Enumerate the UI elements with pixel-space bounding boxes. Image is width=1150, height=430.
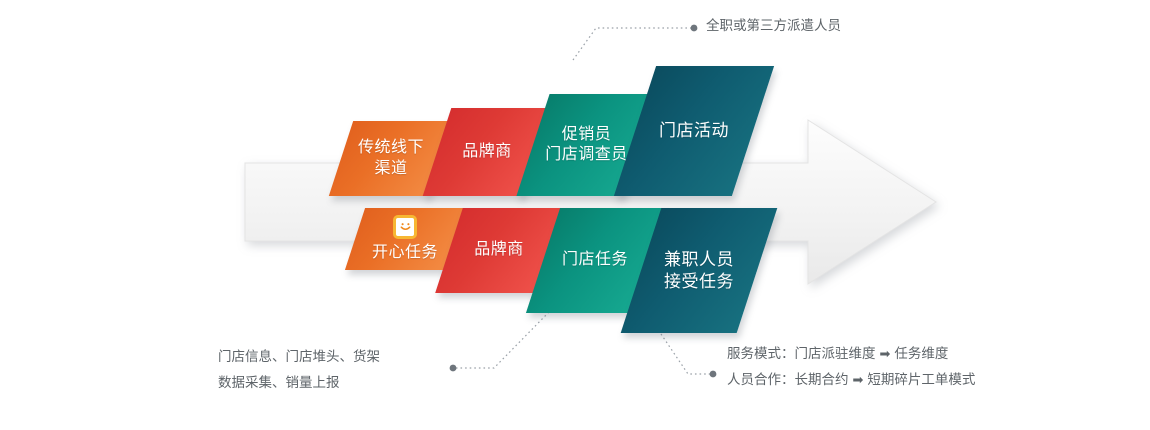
- tile-label-line: 门店调查员: [545, 145, 628, 165]
- tile-label-line: 接受任务: [664, 271, 734, 293]
- annotation-line: 数据采集、销量上报: [218, 370, 380, 396]
- leader-top: [573, 28, 691, 60]
- annotation-bottom-left: 门店信息、门店堆头、货架 数据采集、销量上报: [218, 344, 380, 397]
- annotation-bottom-right: 服务模式：门店派驻维度➡任务维度 人员合作：长期合约➡短期碎片工单模式: [727, 341, 975, 394]
- tile-label-line: 兼职人员: [664, 249, 734, 271]
- tile-label-line: 门店任务: [562, 250, 628, 270]
- diagram-canvas: 传统线下 渠道 品牌商 促销员 门店调查员 门店活动 开: [0, 0, 1150, 430]
- tile-label-line: 促销员: [562, 125, 612, 145]
- tile-label-line: 门店活动: [659, 120, 729, 142]
- annotation-to: 任务维度: [894, 346, 948, 362]
- leader-bottom-left-dot: [450, 365, 457, 372]
- annotation-top-right: 全职或第三方派遣人员: [706, 13, 841, 39]
- tile-part-time-accept-task[interactable]: 兼职人员 接受任务: [621, 208, 778, 333]
- leader-top-dot: [691, 25, 698, 32]
- annotation-line: 门店信息、门店堆头、货架: [218, 344, 380, 370]
- leader-bottom-left: [456, 312, 549, 368]
- tile-label-line: 品牌商: [474, 240, 524, 260]
- annotation-line: 全职或第三方派遣人员: [706, 13, 841, 39]
- tile-label-line: 品牌商: [462, 142, 512, 162]
- tile-label-line: 传统线下: [358, 138, 424, 158]
- annotation-label: 服务模式：: [727, 346, 795, 362]
- annotation-row: 人员合作：长期合约➡短期碎片工单模式: [727, 367, 975, 393]
- transition-arrow-icon: ➡: [876, 347, 895, 362]
- annotation-from: 长期合约: [795, 372, 849, 388]
- tile-label-line: 开心任务: [372, 243, 438, 263]
- smiley-icon: [393, 215, 417, 239]
- leader-bottom-right-dot: [710, 371, 717, 378]
- tile-store-activity[interactable]: 门店活动: [614, 66, 774, 196]
- tile-label-line: 渠道: [374, 159, 407, 179]
- leader-bottom-right: [661, 334, 710, 374]
- annotation-to: 短期碎片工单模式: [867, 372, 975, 388]
- transition-arrow-icon: ➡: [849, 373, 868, 388]
- annotation-label: 人员合作：: [727, 372, 795, 388]
- annotation-from: 门店派驻维度: [795, 346, 876, 362]
- annotation-row: 服务模式：门店派驻维度➡任务维度: [727, 341, 975, 367]
